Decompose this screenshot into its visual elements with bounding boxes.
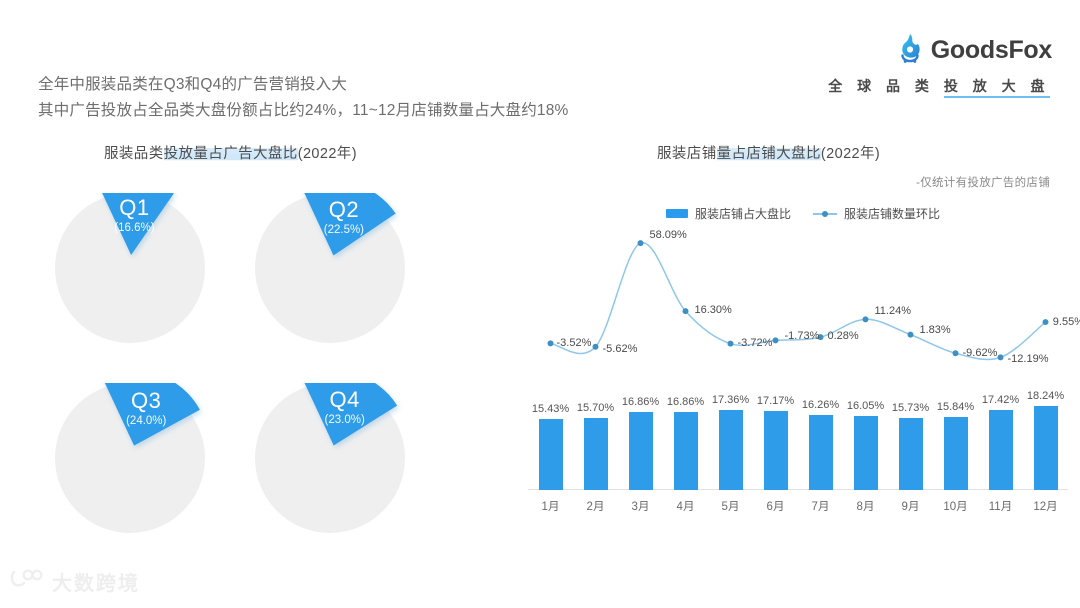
bar-value-label: 17.17% <box>753 395 799 407</box>
line-value-label: -12.19% <box>1008 353 1049 365</box>
legend-line-label: 服装店铺数量环比 <box>844 205 940 222</box>
line-marker <box>953 350 959 356</box>
bar-2月 <box>584 418 608 490</box>
legend-item-line: 服装店铺数量环比 <box>813 205 940 222</box>
bar-11月 <box>989 410 1013 490</box>
slide-root: 全年中服装品类在Q3和Q4的广告营销投入大 其中广告投放占全品类大盘份额占比约2… <box>0 0 1080 608</box>
line-value-label: 1.83% <box>920 324 951 336</box>
chart-legend: 服装店铺占大盘比 服装店铺数量环比 <box>666 205 940 222</box>
pie-slice <box>99 193 173 255</box>
line-marker <box>773 337 779 343</box>
line-marker <box>638 240 644 246</box>
x-axis-label: 2月 <box>575 498 617 514</box>
bar-value-label: 16.05% <box>843 400 889 412</box>
bar-value-label: 16.86% <box>663 396 709 408</box>
bar-8月 <box>854 416 878 490</box>
bar-5月 <box>719 410 743 490</box>
line-marker <box>593 344 599 350</box>
headline-line-2: 其中广告投放占全品类大盘份额占比约24%，11~12月店铺数量占大盘约18% <box>38 98 658 124</box>
left-title-prefix: 服装品类 <box>104 146 164 162</box>
bar-value-label: 15.70% <box>573 402 619 414</box>
dashujingjing-logo-icon <box>10 568 44 595</box>
line-value-label: -3.72% <box>738 337 773 349</box>
left-title-suffix: (2022年) <box>298 146 357 162</box>
right-title-suffix: (2022年) <box>821 146 880 162</box>
bar-10月 <box>944 417 968 490</box>
brand-subtitle-plain: 全 球 品 类 <box>828 78 944 94</box>
headline: 全年中服装品类在Q3和Q4的广告营销投入大 其中广告投放占全品类大盘份额占比约2… <box>38 46 658 150</box>
bar-1月 <box>539 419 563 490</box>
monthly-combo-chart: 15.43%1月15.70%2月16.86%3月16.86%4月17.36%5月… <box>528 232 1068 532</box>
x-axis-label: 10月 <box>935 498 977 514</box>
x-axis-label: 3月 <box>620 498 662 514</box>
line-value-label: 9.55% <box>1053 316 1080 328</box>
goodsfox-flame-icon <box>896 33 924 68</box>
line-value-label: 58.09% <box>650 229 687 241</box>
legend-bar-swatch-icon <box>666 209 688 218</box>
pie-q1: Q1(16.6%) <box>55 193 255 363</box>
line-marker <box>683 308 689 314</box>
bar-9月 <box>899 418 923 490</box>
line-marker <box>548 340 554 346</box>
line-value-label: -1.73% <box>785 330 820 342</box>
bar-6月 <box>764 411 788 490</box>
line-marker <box>998 354 1004 360</box>
legend-line-swatch-icon <box>813 209 837 218</box>
line-marker <box>908 332 914 338</box>
legend-bar-label: 服装店铺占大盘比 <box>695 205 791 222</box>
bar-4月 <box>674 412 698 490</box>
pie-q4: Q4(23.0%) <box>255 383 455 553</box>
right-title-highlight: 量占店铺大盘比 <box>717 146 821 162</box>
line-value-label: -5.62% <box>603 343 638 355</box>
line-value-label: 0.28% <box>828 330 859 342</box>
x-axis-label: 8月 <box>845 498 887 514</box>
x-axis-label: 6月 <box>755 498 797 514</box>
bar-7月 <box>809 415 833 490</box>
bar-value-label: 16.86% <box>618 396 664 408</box>
left-chart-title: 服装品类投放量占广告大盘比(2022年) <box>104 142 357 163</box>
brand-subtitle-underlined: 投 放 大 盘 <box>944 78 1050 98</box>
x-axis-label: 1月 <box>530 498 572 514</box>
left-title-highlight: 投放量占广告大盘比 <box>164 146 298 162</box>
line-value-label: -3.52% <box>557 337 592 349</box>
pie-slice <box>302 383 397 446</box>
pie-q2: Q2(22.5%) <box>255 193 455 363</box>
x-axis-label: 4月 <box>665 498 707 514</box>
brand-name: GoodsFox <box>931 36 1052 65</box>
x-axis-label: 7月 <box>800 498 842 514</box>
headline-line-1: 全年中服装品类在Q3和Q4的广告营销投入大 <box>38 76 347 93</box>
right-title-prefix: 服装店铺 <box>657 146 717 162</box>
x-axis-label: 12月 <box>1025 498 1067 514</box>
bar-3月 <box>629 412 653 490</box>
legend-item-bar: 服装店铺占大盘比 <box>666 205 791 222</box>
pie-q3: Q3(24.0%) <box>55 383 255 553</box>
line-series <box>528 232 1068 392</box>
bar-value-label: 15.43% <box>528 403 574 415</box>
line-marker <box>728 341 734 347</box>
right-chart-title: 服装店铺量占店铺大盘比(2022年) <box>657 142 880 163</box>
x-axis-label: 9月 <box>890 498 932 514</box>
bar-value-label: 17.42% <box>978 394 1024 406</box>
line-value-label: -9.62% <box>963 347 998 359</box>
bar-value-label: 15.73% <box>888 402 934 414</box>
bar-value-label: 15.84% <box>933 401 979 413</box>
pie-slice <box>302 193 396 255</box>
bar-value-label: 16.26% <box>798 399 844 411</box>
x-axis-label: 5月 <box>710 498 752 514</box>
brand-block: GoodsFox 全 球 品 类 投 放 大 盘 <box>828 33 1052 96</box>
pie-slice <box>102 383 200 446</box>
watermark: 大数跨境 <box>10 567 140 596</box>
right-chart-note: -仅统计有投放广告的店铺 <box>916 174 1050 190</box>
x-axis-label: 11月 <box>980 498 1022 514</box>
watermark-text: 大数跨境 <box>52 567 140 596</box>
quarterly-pie-grid: Q1(16.6%)Q2(22.5%)Q3(24.0%)Q4(23.0%) <box>55 193 475 543</box>
line-value-label: 16.30% <box>695 304 732 316</box>
line-marker <box>1043 319 1049 325</box>
brand-subtitle: 全 球 品 类 投 放 大 盘 <box>828 76 1052 96</box>
bar-12月 <box>1034 406 1058 490</box>
x-axis-line <box>528 489 1068 490</box>
line-marker <box>863 316 869 322</box>
line-value-label: 11.24% <box>875 305 912 317</box>
bar-value-label: 17.36% <box>708 394 754 406</box>
